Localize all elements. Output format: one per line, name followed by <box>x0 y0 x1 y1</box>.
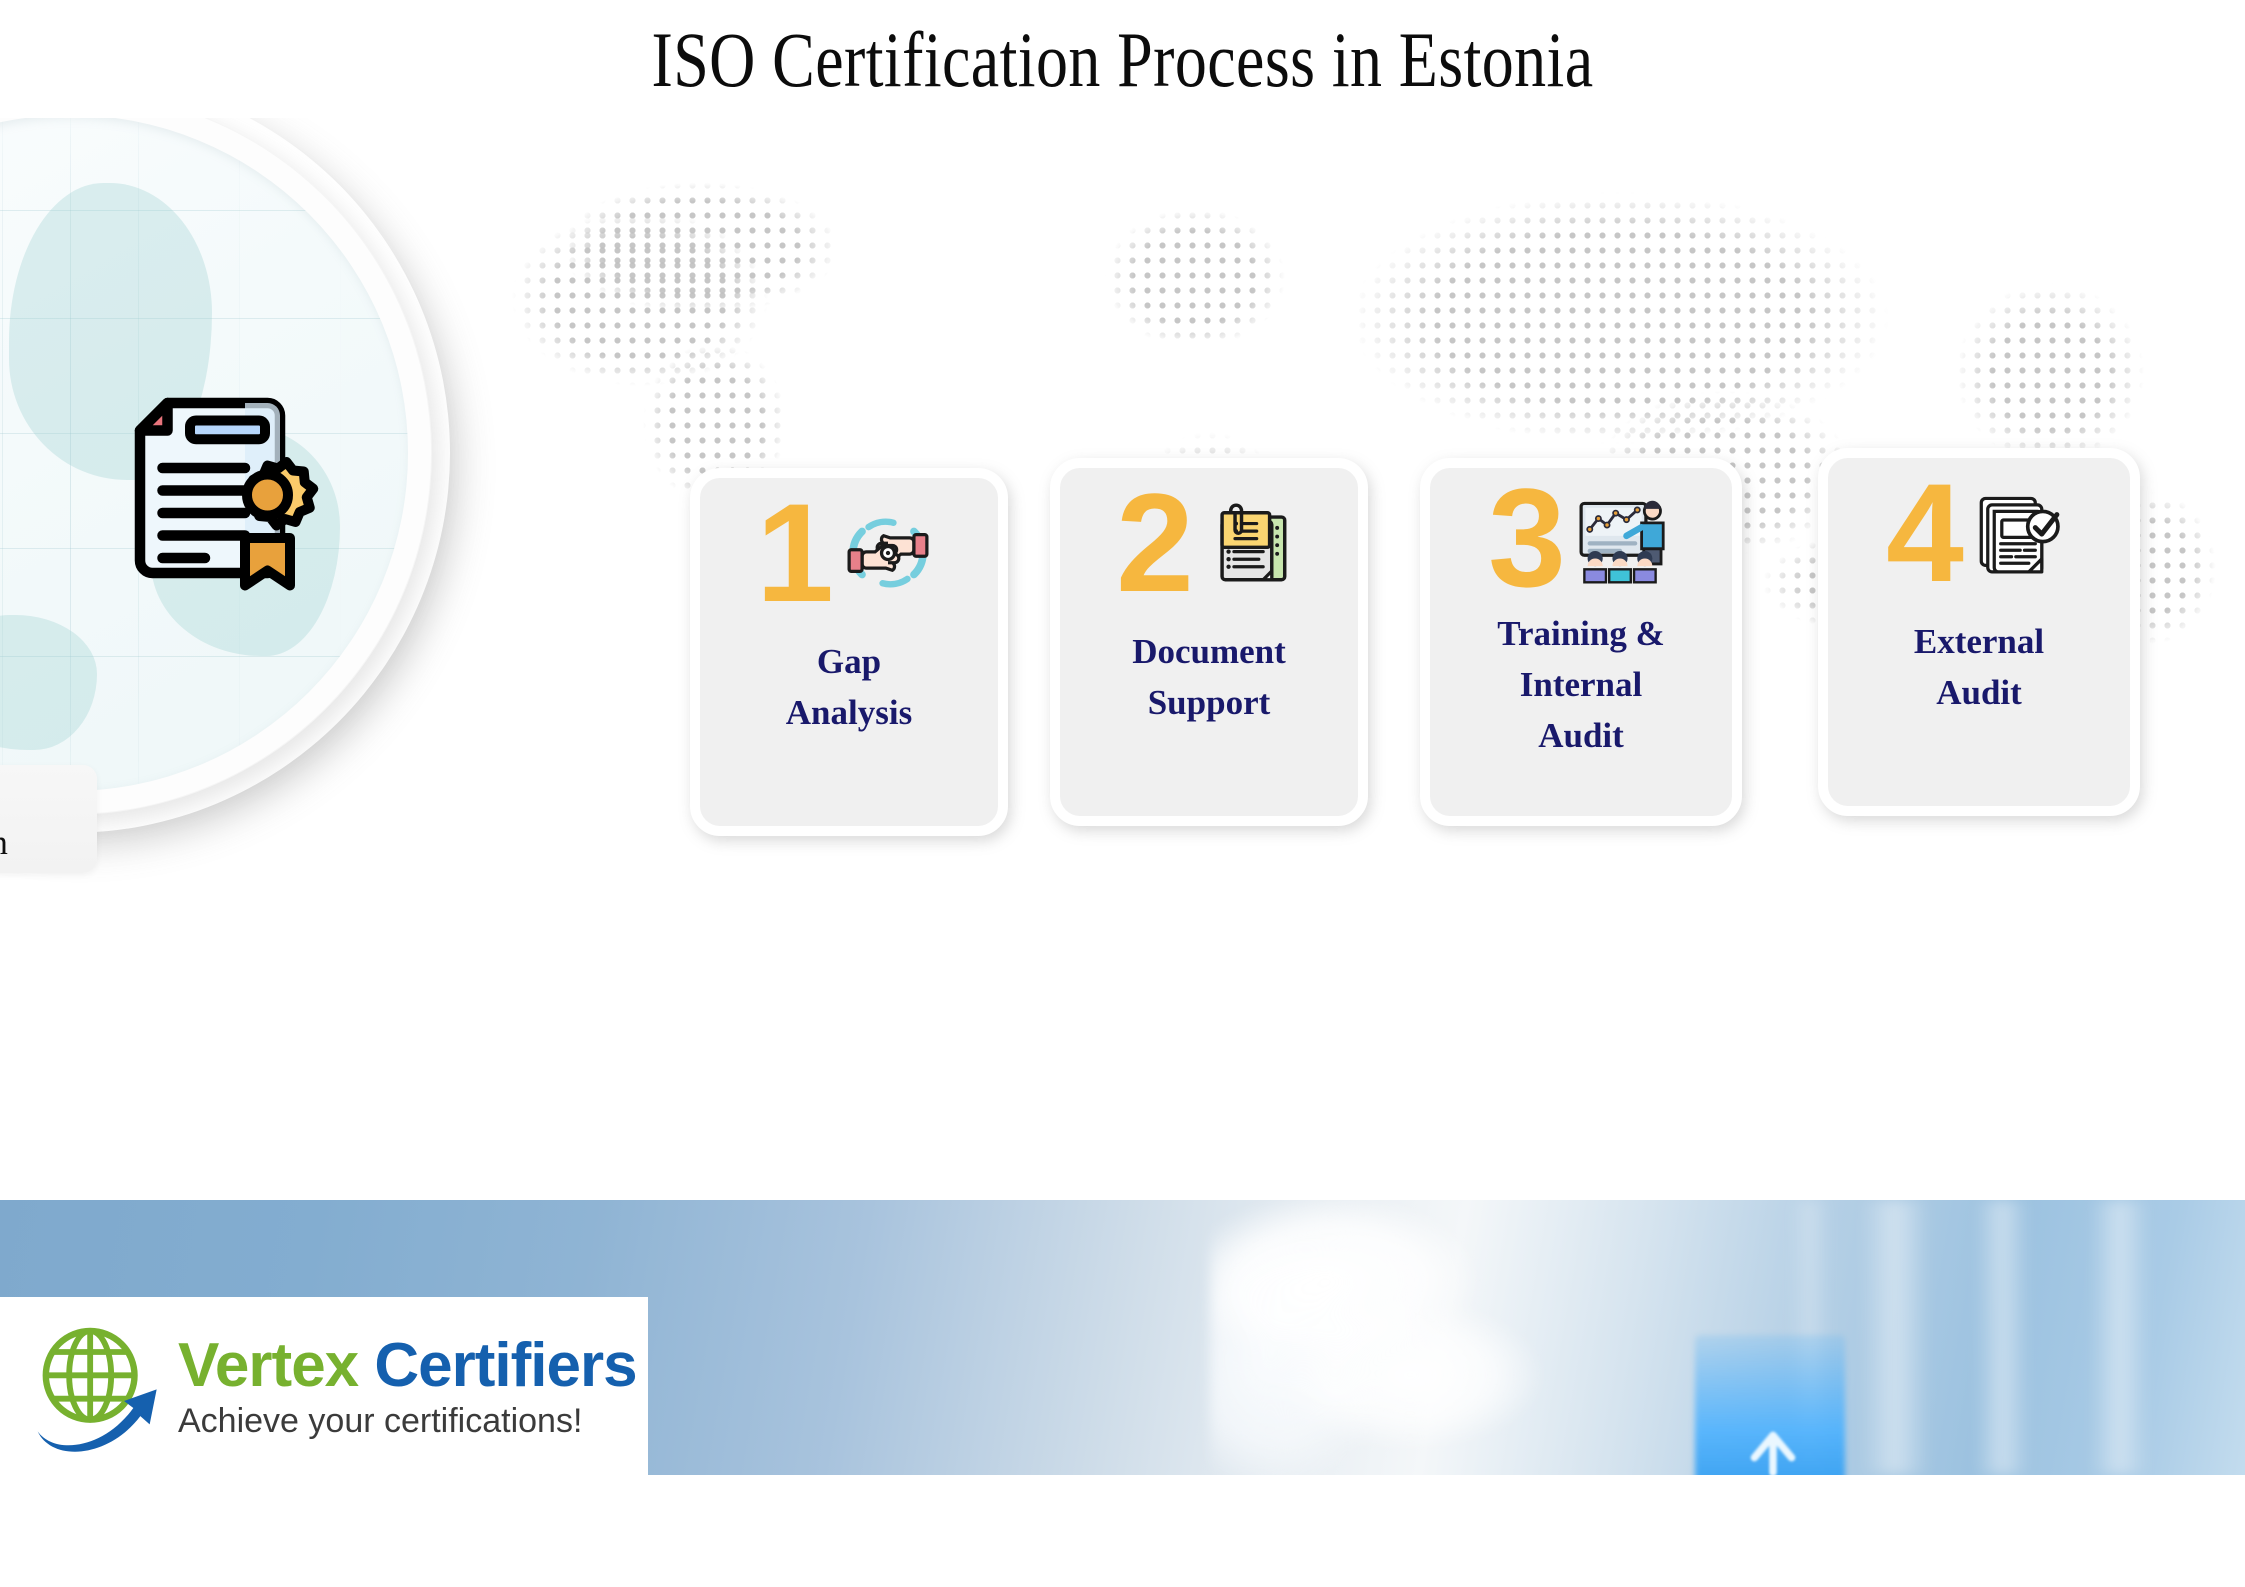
step-1-label-line2: Analysis <box>708 687 990 738</box>
step-4-label-line2: Audit <box>1836 667 2122 718</box>
logo-brand-part1: Vertex <box>178 1331 358 1400</box>
step-4-label: External Audit <box>1836 616 2122 718</box>
step-1-number: 1 <box>756 483 830 623</box>
step-2-label: Document Support <box>1068 626 1350 728</box>
step-card-3[interactable]: 3 <box>1420 458 1742 826</box>
globe-arrow-logo-icon <box>26 1317 166 1457</box>
step-1-header: 1 <box>700 478 998 628</box>
step-3-label-line3: Audit <box>1438 710 1724 761</box>
handshake-collaboration-icon <box>834 499 942 607</box>
step-4-number: 4 <box>1886 463 1960 603</box>
step-card-1[interactable]: 1 <box>690 468 1008 836</box>
step-3-label: Training & Internal Audit <box>1438 608 1724 761</box>
training-presentation-icon <box>1566 484 1674 592</box>
certificate-document-with-medal-icon <box>85 363 335 613</box>
iso-certification-badge-label: ISO Certification <box>0 765 97 873</box>
iso-label-line2: Certification <box>0 819 8 866</box>
hand-image <box>1210 1200 1770 1475</box>
step-3-label-line2: Internal <box>1438 659 1724 710</box>
step-2-label-line2: Support <box>1068 677 1350 728</box>
step-3-header: 3 <box>1430 468 1732 608</box>
step-2-header: 2 <box>1060 468 1358 618</box>
step-4-header: 4 <box>1828 458 2130 608</box>
step-3-number: 3 <box>1488 468 1562 608</box>
hero-globe: ISO Certification <box>0 118 450 833</box>
logo-tagline: Achieve your certifications! <box>178 1401 637 1441</box>
step-1-label-line1: Gap <box>708 636 990 687</box>
step-4-label-line1: External <box>1836 616 2122 667</box>
logo-brand-name: Vertex Certifiers <box>178 1333 637 1399</box>
document-stack-checkmark-icon <box>1964 479 2072 587</box>
step-card-4[interactable]: 4 <box>1818 448 2140 816</box>
logo-text-block: Vertex Certifiers Achieve your certifica… <box>178 1333 637 1441</box>
company-logo[interactable]: Vertex Certifiers Achieve your certifica… <box>0 1297 648 1477</box>
step-3-label-line1: Training & <box>1438 608 1724 659</box>
content-panel: ISO Certification 1 <box>0 118 2245 1200</box>
step-1-label: Gap Analysis <box>708 636 990 738</box>
bottom-white-strip <box>0 1475 2245 1587</box>
documents-paperclip-icon <box>1194 489 1302 597</box>
page-title: ISO Certification Process in Estonia <box>202 14 2043 106</box>
step-2-number: 2 <box>1116 473 1190 613</box>
step-2-label-line1: Document <box>1068 626 1350 677</box>
logo-brand-part2: Certifiers <box>374 1331 636 1400</box>
process-steps: 1 <box>690 458 2210 878</box>
infographic-canvas: ISO Certification Process in Estonia <box>0 0 2245 1587</box>
step-card-2[interactable]: 2 <box>1050 458 1368 826</box>
